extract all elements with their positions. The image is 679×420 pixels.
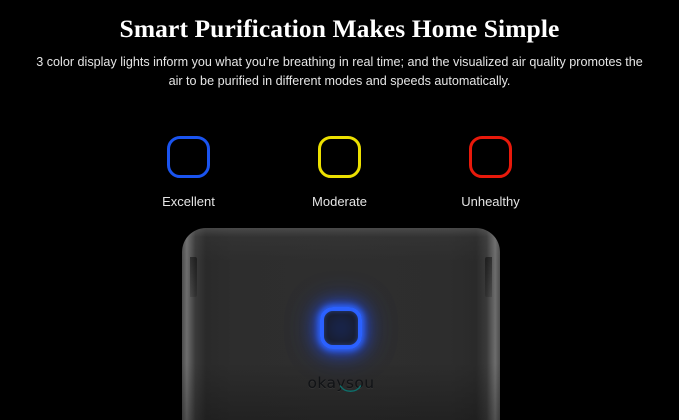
rounded-square-outline-icon-moderate [318, 136, 361, 178]
legend-item-label: Moderate [312, 194, 367, 210]
device-side-vent-right [485, 257, 492, 297]
air-purifier-device: okaysou [182, 228, 500, 420]
legend-item-excellent: Excellent [140, 136, 237, 210]
brand-swoosh-icon [339, 385, 361, 393]
page-subtitle: 3 color display lights inform you what y… [33, 53, 647, 90]
brand-logo: okaysou [307, 375, 374, 391]
legend-item-moderate: Moderate [291, 136, 388, 210]
legend-item-label: Excellent [162, 194, 215, 210]
air-quality-legend: Excellent Moderate Unhealthy [0, 136, 679, 210]
header: Smart Purification Makes Home Simple 3 c… [0, 0, 679, 90]
rounded-square-outline-icon-unhealthy [469, 136, 512, 178]
device-side-vent-left [190, 257, 197, 297]
product-feature-panel: Smart Purification Makes Home Simple 3 c… [0, 0, 679, 420]
device-top-highlight [182, 228, 500, 237]
legend-item-label: Unhealthy [461, 194, 520, 210]
device-indicator[interactable] [313, 300, 369, 356]
glowing-rounded-square-indicator-icon[interactable] [320, 307, 362, 349]
rounded-square-outline-icon-excellent [167, 136, 210, 178]
legend-item-unhealthy: Unhealthy [442, 136, 539, 210]
page-title: Smart Purification Makes Home Simple [0, 14, 679, 44]
